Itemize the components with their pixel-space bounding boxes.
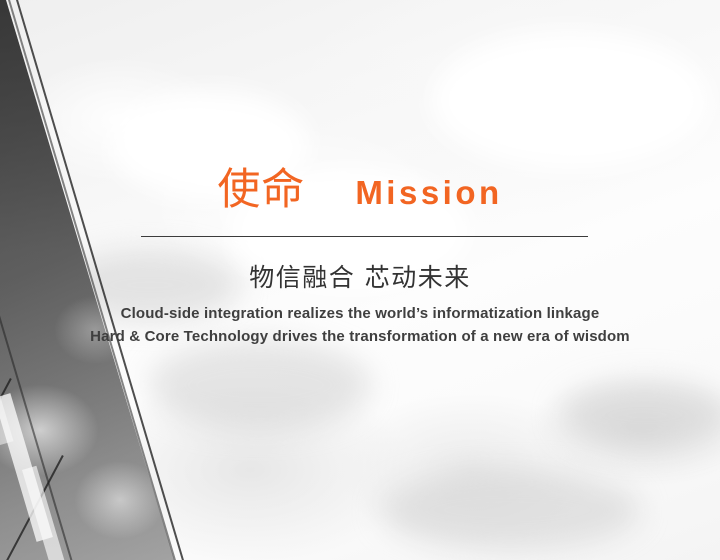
hero-content: 使命 Mission 物信融合 芯动未来 Cloud-side integrat… <box>0 0 720 560</box>
hero-subtitle: 物信融合 芯动未来 <box>0 258 720 294</box>
page-title-cn: 使命 <box>217 169 305 212</box>
hero-body-line-1: Cloud-side integration realizes the worl… <box>0 302 720 325</box>
hero-body-line-2: Hard & Core Technology drives the transf… <box>0 325 720 348</box>
mission-banner: 使命 Mission 物信融合 芯动未来 Cloud-side integrat… <box>0 0 720 560</box>
hero-body: Cloud-side integration realizes the worl… <box>0 302 720 348</box>
page-title-en: Mission <box>355 176 502 209</box>
hero-title-row: 使命 Mission <box>0 169 720 212</box>
title-divider <box>141 236 588 237</box>
